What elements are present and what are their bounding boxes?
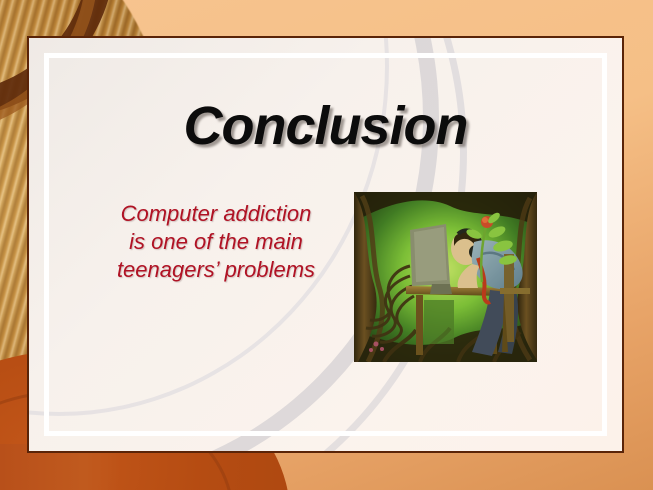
- slide-content-panel: Conclusion Computer addiction is one of …: [27, 36, 624, 453]
- slide-body-text: Computer addiction is one of the main te…: [71, 200, 361, 284]
- body-line-3: teenagers’ problems: [71, 256, 361, 284]
- body-line-2: is one of the main: [71, 228, 361, 256]
- conclusion-illustration: [354, 192, 537, 362]
- illustration-artwork: [354, 192, 537, 362]
- body-line-1: Computer addiction: [71, 200, 361, 228]
- slide-title: Conclusion: [29, 95, 622, 157]
- presentation-slide: Conclusion Computer addiction is one of …: [0, 0, 653, 490]
